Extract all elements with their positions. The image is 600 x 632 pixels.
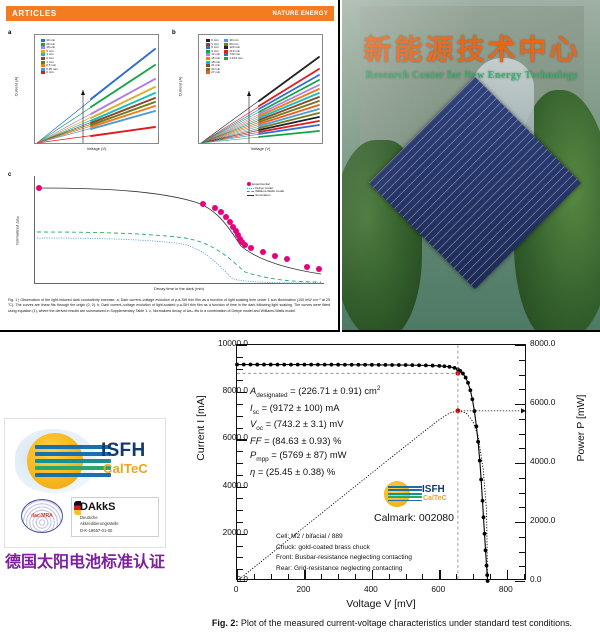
panel-c-legend-label: Summation <box>255 194 270 197</box>
fig2-left-tick-label: 10000.0 <box>218 338 248 348</box>
fig2-cell-info-line: Cell: M2 / bifacial / 889 <box>276 532 412 543</box>
fig2-parameter-row: FF = (84.63 ± 0.93) % <box>250 434 380 448</box>
legend-marker-icon <box>247 195 254 196</box>
fig2-parameter-row: Voc = (743.2 ± 3.1) mV <box>250 417 380 434</box>
isfh-certificate-logo: ISFH CalTeC ilac-MRA DAkkS Deutsche Akkr… <box>4 418 166 548</box>
fig2-data-point <box>482 515 486 519</box>
figure-2-caption: Fig. 2: Plot of the measured current-vol… <box>192 618 592 628</box>
legend-swatch-icon <box>224 57 228 60</box>
fig2-x-minor-tick <box>524 574 525 579</box>
fig2-right-minor-tick <box>519 448 525 449</box>
photo-glare-overlay <box>342 0 600 332</box>
legend-swatch-icon <box>206 71 210 74</box>
panel-c-legend-item: Summation <box>247 194 284 197</box>
panel-a-tag: a <box>8 30 11 36</box>
caltec-wordmark: CalTeC <box>103 462 148 475</box>
fig2-x-major-tick <box>507 570 508 579</box>
fig2-data-point <box>483 532 487 536</box>
fig2-left-tick-label: 8000.0 <box>223 385 248 395</box>
fig2-parameter-row: Pmpp = (5769 ± 87) mW <box>250 448 380 465</box>
legend-swatch-icon <box>41 64 45 67</box>
fig2-left-minor-tick <box>237 451 243 452</box>
journal-section-label: ARTICLES <box>12 9 57 18</box>
fig2-cell-info-line: Chuck: gold-coated brass chuck <box>276 543 412 554</box>
panel-b-legend-item: 27 min <box>206 71 220 74</box>
fig2-data-point <box>437 364 441 368</box>
fig2-data-point <box>282 363 286 367</box>
fig2-x-minor-tick <box>422 574 423 579</box>
dakks-sub-line-2: Akkreditierungsstelle <box>80 521 119 527</box>
legend-swatch-icon <box>206 46 210 49</box>
fig2-parameter-row: Adesignated = (226.71 ± 0.91) cm2 <box>250 384 380 401</box>
legend-swatch-icon <box>206 64 210 67</box>
legend-marker-icon <box>247 191 254 192</box>
fig2-right-minor-tick <box>519 375 525 376</box>
fig2-data-point <box>417 363 421 367</box>
fig2-data-point <box>410 363 414 367</box>
ilac-mra-seal: ilac-MRA <box>21 499 63 533</box>
screenshot-page: ARTICLES NATURE ENERGY a <box>0 0 600 632</box>
fig2-x-axis-label: Voltage V [mV] <box>236 598 526 610</box>
legend-swatch-icon <box>206 43 210 46</box>
fig2-data-point <box>330 363 334 367</box>
legend-swatch-icon <box>224 53 228 56</box>
fig2-data-point <box>397 363 401 367</box>
fig2-x-minor-tick <box>338 574 339 579</box>
legend-swatch-icon <box>41 50 45 53</box>
legend-swatch-icon <box>41 68 45 71</box>
fig2-data-point <box>424 363 428 367</box>
fig2-left-minor-tick <box>237 475 243 476</box>
dakks-accreditation-mark: DAkkS Deutsche Akkreditierungsstelle D-K… <box>71 497 159 537</box>
fig2-data-point <box>336 363 340 367</box>
fig2-left-tick-label: 6000.0 <box>223 432 248 442</box>
fig2-right-minor-tick <box>519 537 525 538</box>
legend-swatch-icon <box>41 46 45 49</box>
legend-swatch-icon <box>41 61 45 64</box>
fig2-right-major-tick <box>515 345 525 346</box>
fig2-right-major-tick <box>515 463 525 464</box>
fig2-x-major-tick <box>439 570 440 579</box>
legend-swatch-icon <box>224 39 228 42</box>
fig2-x-minor-tick <box>406 574 407 579</box>
fig2-x-minor-tick <box>288 574 289 579</box>
fig2-calmark-label: Calmark: 002080 <box>374 512 454 524</box>
fig2-left-minor-tick <box>237 357 243 358</box>
fig2-data-point <box>453 366 457 370</box>
fig2-data-point <box>235 363 239 367</box>
fig2-data-point <box>269 363 273 367</box>
fig2-x-minor-tick <box>271 574 272 579</box>
article-figure-panel: ARTICLES NATURE ENERGY a <box>0 0 340 332</box>
fig2-x-tick-label: 800 <box>499 584 513 594</box>
fig2-left-minor-tick <box>237 510 243 511</box>
journal-header-bar: ARTICLES NATURE ENERGY <box>6 6 334 21</box>
fig2-data-point <box>479 478 483 482</box>
fig2-data-point <box>242 363 246 367</box>
fig2-x-minor-tick <box>490 574 491 579</box>
fig2-data-point <box>404 363 408 367</box>
legend-swatch-icon <box>206 57 210 60</box>
panel-a-ylabel: Current (A) <box>14 62 19 112</box>
fig2-x-minor-tick <box>321 574 322 579</box>
fig2-left-minor-tick <box>237 557 243 558</box>
legend-swatch-icon <box>206 53 210 56</box>
fig2-x-tick-label: 400 <box>364 584 378 594</box>
fig2-cell-info-block: Cell: M2 / bifacial / 889Chuck: gold-coa… <box>276 532 412 575</box>
fig2-parameter-list: Adesignated = (226.71 ± 0.91) cm2Isc = (… <box>250 384 380 479</box>
panel-a-plot: 30 min20 min10 min5 min3 min2 min1 min0.… <box>34 34 159 144</box>
panel-a-legend-item: 0 min <box>41 71 58 74</box>
fig2-right-minor-tick <box>519 493 525 494</box>
fig2-right-major-tick <box>515 522 525 523</box>
fig2-data-point <box>356 363 360 367</box>
fig2-cell-info-line: Front: Busbar-resistance neglecting cont… <box>276 553 412 564</box>
dakks-subtext: Deutsche Akkreditierungsstelle D-K-18657… <box>80 515 119 534</box>
logo-stripe-bars <box>35 445 111 479</box>
panel-a-xlabel: Voltage (V) <box>34 146 159 151</box>
fig2-data-point <box>470 397 474 401</box>
journal-name-label: NATURE ENERGY <box>273 11 328 17</box>
fig2-left-minor-tick <box>237 369 243 370</box>
panel-b-tag: b <box>172 30 176 36</box>
panel-b-ylabel: Current (A) <box>178 62 183 112</box>
fig2-right-minor-tick <box>519 419 525 420</box>
fig2-data-point <box>303 363 307 367</box>
fig2-right-minor-tick <box>519 360 525 361</box>
figure-2-iv-chart: Current I [mA] Power P [mW] Voltage V [m… <box>178 336 600 632</box>
legend-swatch-icon <box>206 50 210 53</box>
fig2-isfh-logo: ISFH CalTeC <box>382 479 448 509</box>
fig2-data-point <box>431 364 435 368</box>
legend-swatch-icon <box>206 68 210 71</box>
fig2-data-point <box>448 365 452 369</box>
fig2-right-tick-label: 2000.0 <box>530 515 555 525</box>
isfh-wordmark: ISFH <box>101 441 145 460</box>
legend-swatch-icon <box>41 53 45 56</box>
fig2-right-tick-label: 0.0 <box>530 574 542 584</box>
fig2-mpp-arrow-icon <box>521 408 526 413</box>
fig2-x-tick-label: 600 <box>431 584 445 594</box>
fig2-parameter-row: Isc = (9172 ± 100) mA <box>250 401 380 418</box>
dakks-title: DAkkS <box>80 501 115 513</box>
fig2-right-tick-label: 8000.0 <box>530 338 555 348</box>
fig2-left-minor-tick <box>237 498 243 499</box>
fig2-data-point <box>486 579 490 583</box>
fig2-left-axis-label: Current I [mA] <box>195 383 207 473</box>
figure-1-caption: Fig. 1 | Observation of the light-induce… <box>8 298 330 314</box>
legend-swatch-icon <box>206 39 210 42</box>
panel-c-tag: c <box>8 172 11 178</box>
dakks-sub-line-3: D-K-18657-01-00 <box>80 528 119 534</box>
fig2-right-minor-tick <box>519 507 525 508</box>
fig2-x-tick-label: 200 <box>297 584 311 594</box>
panel-c-legend: ExperimentalDebye modelWilliams-Watts mo… <box>247 182 284 197</box>
fig2-right-minor-tick <box>519 566 525 567</box>
fig2-x-minor-tick <box>473 574 474 579</box>
fig2-data-point <box>343 363 347 367</box>
fig2-caption-prefix: Fig. 2: <box>212 618 239 628</box>
fig2-x-minor-tick <box>389 574 390 579</box>
fig2-left-tick-label: 4000.0 <box>223 480 248 490</box>
fig2-data-point <box>461 372 465 376</box>
legend-swatch-icon <box>224 50 228 53</box>
panel-b-plot: 0 min3 min6 min9 min12 min15 min18 min21… <box>198 34 323 144</box>
fig2-x-minor-tick <box>456 574 457 579</box>
fig2-data-point <box>476 440 480 444</box>
fig2-x-tick-label: 0 <box>234 584 239 594</box>
panel-c-plot: ExperimentalDebye modelWilliams-Watts mo… <box>34 176 324 284</box>
fig2-right-tick-label: 4000.0 <box>530 456 555 466</box>
certificate-chinese-caption: 德国太阳电池标准认证 <box>4 548 166 572</box>
fig2-x-minor-tick <box>355 574 356 579</box>
panel-c-xlabel: Decay time in the dark (min) <box>34 286 324 291</box>
fig2-left-minor-tick <box>237 380 243 381</box>
fig2-left-tick-label: 0.0 <box>236 574 248 584</box>
legend-swatch-icon <box>41 43 45 46</box>
fig2-x-minor-tick <box>254 574 255 579</box>
panel-b-legend: 0 min3 min6 min9 min12 min15 min18 min21… <box>206 39 243 74</box>
legend-swatch-icon <box>41 39 45 42</box>
fig2-caltec-wordmark: CalTeC <box>423 495 447 502</box>
ilac-mra-label: ilac-MRA <box>31 513 52 519</box>
fig2-data-point <box>262 363 266 367</box>
legend-swatch-icon <box>41 57 45 60</box>
legend-marker-icon <box>247 182 251 186</box>
fig2-isfh-wordmark: ISFH <box>422 484 445 495</box>
fig2-caption-text: Plot of the measured current-voltage cha… <box>241 618 572 628</box>
legend-marker-icon <box>247 188 254 189</box>
fig2-left-minor-tick <box>237 463 243 464</box>
fig2-data-point <box>383 363 387 367</box>
fig2-data-point <box>390 363 394 367</box>
fig2-parameter-row: η = (25.45 ± 0.38) % <box>250 465 380 479</box>
fig2-data-point <box>481 499 485 503</box>
panel-b-xlabel: Voltage (V) <box>198 146 323 151</box>
lab-photograph: 新能源技术中心 Research Center for New Energy T… <box>342 0 600 332</box>
fig2-data-point <box>466 381 470 385</box>
panel-b-legend-item: 1,143 min <box>224 57 242 60</box>
fig2-left-minor-tick <box>237 404 243 405</box>
fig2-data-point <box>255 363 259 367</box>
fig2-data-point <box>485 564 489 568</box>
legend-swatch-icon <box>206 61 210 64</box>
panel-a-legend: 30 min20 min10 min5 min3 min2 min1 min0.… <box>41 39 58 74</box>
fig2-right-minor-tick <box>519 389 525 390</box>
fig2-left-minor-tick <box>237 546 243 547</box>
fig2-right-axis-label: Power P [mW] <box>575 383 587 473</box>
fig2-data-point <box>468 388 472 392</box>
fig2-data-point <box>316 363 320 367</box>
fig2-left-tick-label: 2000.0 <box>223 527 248 537</box>
fig2-data-point <box>323 363 327 367</box>
fig2-right-minor-tick <box>519 552 525 553</box>
fig2-data-point <box>377 363 381 367</box>
fig2-data-point <box>289 363 293 367</box>
fig2-data-point <box>249 363 253 367</box>
panel-c-ylabel: Normalized Δσₑᵣ <box>15 201 20 261</box>
fig2-right-minor-tick <box>519 434 525 435</box>
fig2-cell-info-line: Rear: Grid-resistance neglecting contact… <box>276 564 412 575</box>
fig2-right-tick-label: 6000.0 <box>530 397 555 407</box>
fig2-left-minor-tick <box>237 522 243 523</box>
fig2-left-minor-tick <box>237 416 243 417</box>
panel-b-legend-label: 27 min <box>211 71 220 74</box>
fig2-data-point <box>309 363 313 367</box>
fig2-data-point <box>464 376 468 380</box>
fig2-data-point <box>363 363 367 367</box>
panel-b-legend-label: 1,143 min <box>229 57 242 60</box>
fig2-data-point <box>442 364 446 368</box>
fig2-right-minor-tick <box>519 478 525 479</box>
fig2-left-minor-tick <box>237 428 243 429</box>
fig2-right-major-tick <box>515 404 525 405</box>
legend-swatch-icon <box>41 71 45 74</box>
fig2-data-point <box>350 363 354 367</box>
fig2-data-point <box>276 363 280 367</box>
fig2-data-point <box>296 363 300 367</box>
legend-swatch-icon <box>224 43 228 46</box>
fig2-data-point <box>370 363 374 367</box>
legend-swatch-icon <box>224 46 228 49</box>
fig2-data-point <box>478 459 482 463</box>
panel-a-legend-label: 0 min <box>46 71 53 74</box>
fig2-logo-stripes <box>388 486 422 502</box>
fig2-right-major-tick <box>515 581 525 582</box>
